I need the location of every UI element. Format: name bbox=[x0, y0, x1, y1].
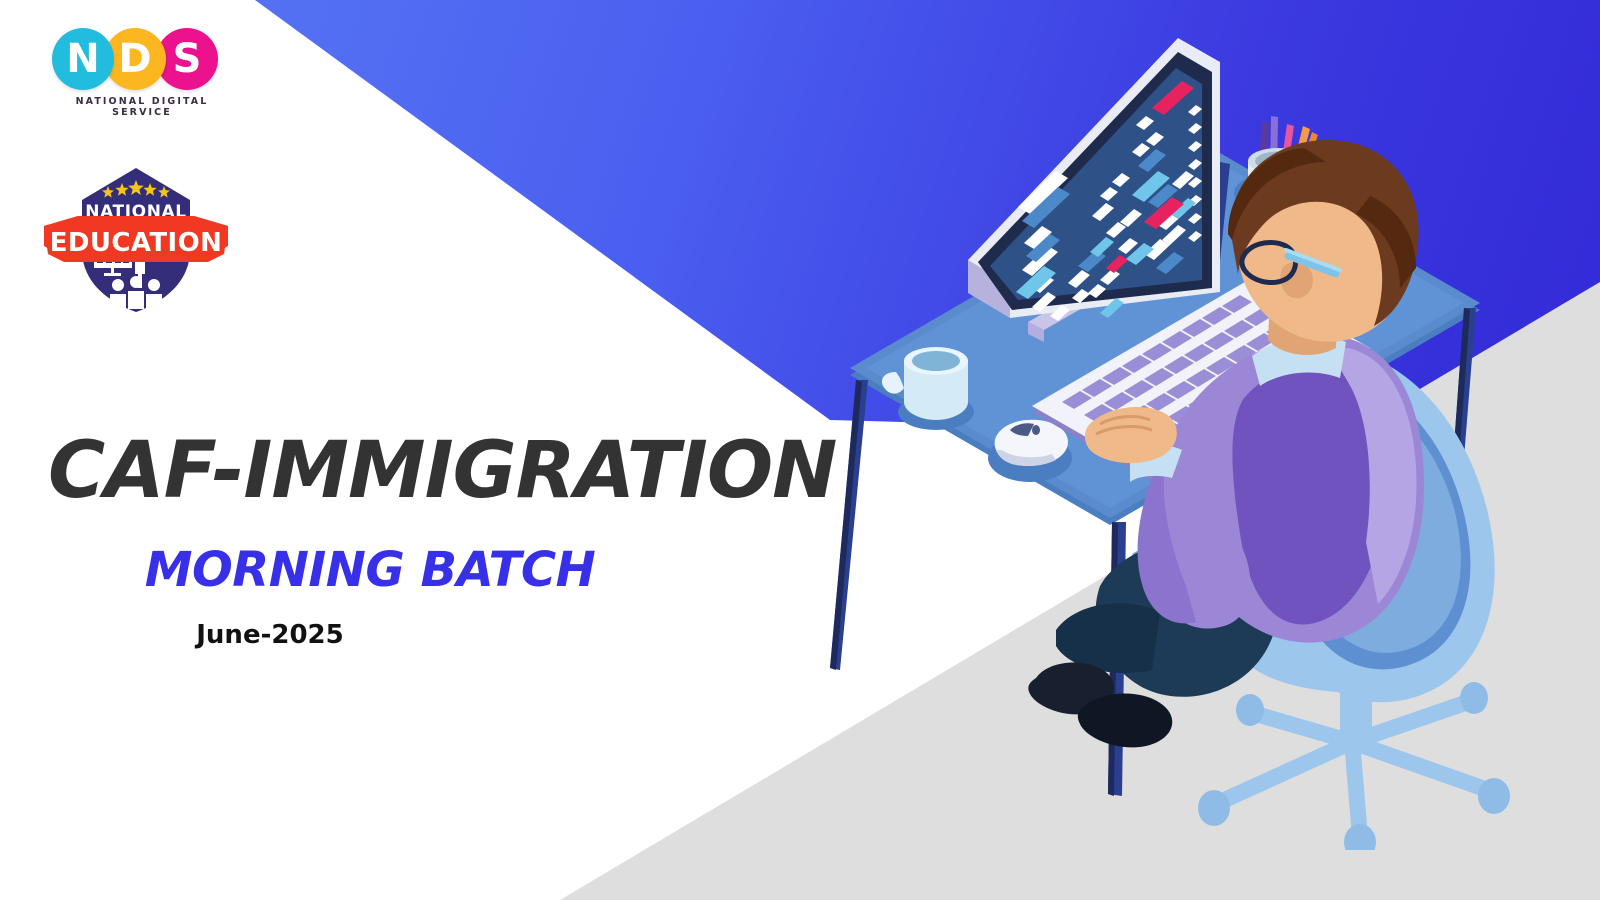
badge-education-text: EDUCATION bbox=[50, 228, 223, 258]
headline-block: CAF-IMMIGRATION MORNING BATCH June-2025 bbox=[48, 432, 788, 650]
desktop-monitor bbox=[968, 38, 1220, 342]
badge-graphic: NATIONAL bbox=[38, 142, 234, 322]
nds-letter-n: N bbox=[52, 28, 114, 90]
national-education-badge: NATIONAL bbox=[38, 142, 234, 322]
nds-logo-circles: N D S bbox=[52, 28, 232, 90]
mouse-scroll-wheel bbox=[1032, 425, 1040, 435]
page-subtitle: MORNING BATCH bbox=[48, 542, 788, 598]
workspace-illustration bbox=[800, 30, 1540, 850]
page-title: CAF-IMMIGRATION bbox=[48, 432, 788, 510]
desk-leg-left-shade bbox=[830, 380, 862, 670]
poster-canvas: N D S NATIONAL DIGITAL SERVICE NATIONAL bbox=[0, 0, 1600, 900]
mug-liquid bbox=[912, 351, 960, 371]
nds-logo: N D S NATIONAL DIGITAL SERVICE bbox=[52, 28, 232, 114]
nds-logo-tagline: NATIONAL DIGITAL SERVICE bbox=[54, 96, 230, 118]
batch-date: June-2025 bbox=[48, 620, 788, 650]
workspace-illustration-graphic bbox=[800, 30, 1540, 850]
person-shoe-front bbox=[1078, 693, 1172, 747]
